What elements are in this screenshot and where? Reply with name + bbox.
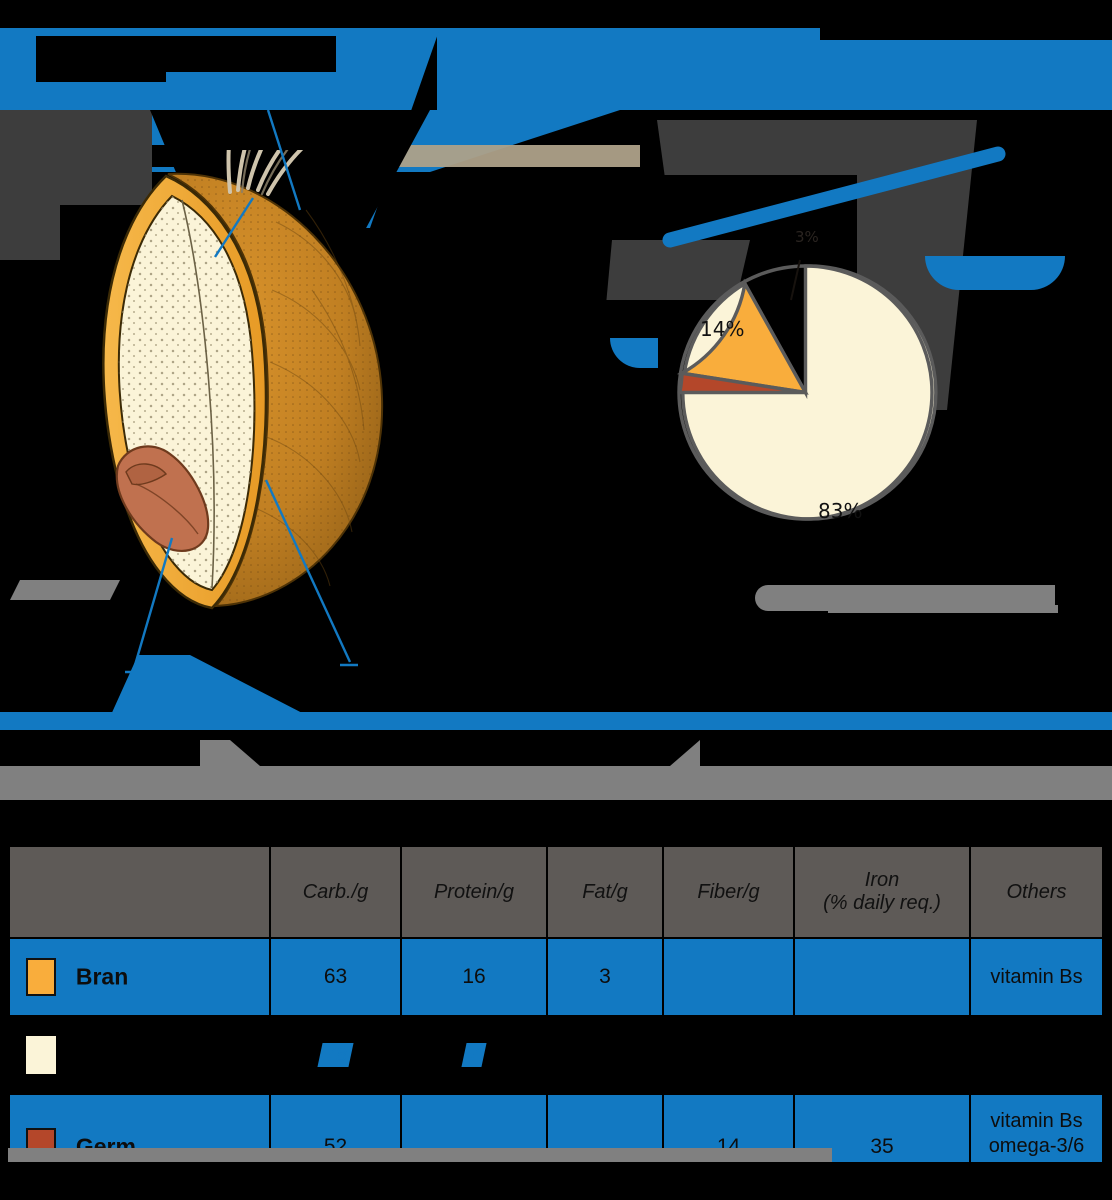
cell-bran-carb: 63: [270, 938, 401, 1016]
col-header-carb: Carb./g: [270, 846, 401, 938]
wheat-kernel-illustration: [60, 150, 400, 620]
row-label-bran: Bran: [76, 964, 128, 990]
kernel-label-blue-shape: [110, 655, 310, 717]
cell-endosperm-others: [970, 1016, 1103, 1094]
legend-swatch-endosperm: [26, 1036, 56, 1074]
col-header-name: [9, 846, 270, 938]
row-label-bran-cell: Bran: [9, 938, 270, 1016]
col-header-fiber: Fiber/g: [663, 846, 794, 938]
row-label-endosperm: Endosperm: [76, 1042, 203, 1068]
banner-right-mask: [820, 28, 1112, 40]
composition-pie-chart: [668, 255, 943, 530]
cell-endosperm-protein-value: 7: [462, 1043, 487, 1067]
pie-label-bran: 14%: [700, 317, 744, 341]
page-subtitle: [36, 60, 166, 82]
col-header-iron: Iron (% daily req.): [794, 846, 970, 938]
beam-bar: [670, 154, 998, 240]
col-header-others: Others: [970, 846, 1103, 938]
cell-bran-protein: 16: [401, 938, 547, 1016]
nutrition-table: Carb./g Protein/g Fat/g Fiber/g Iron (% …: [8, 845, 1104, 1200]
cell-endosperm-carb-value: 78: [317, 1043, 353, 1067]
lower-gray-band-mask-a: [0, 740, 200, 766]
cell-bran-others: vitamin Bs: [970, 938, 1103, 1016]
cell-endosperm-fat: [547, 1016, 663, 1094]
legend-swatch-bran: [26, 958, 56, 996]
cell-bran-fat: 3: [547, 938, 663, 1016]
bottom-margin: [0, 1162, 1112, 1199]
cell-endosperm-carb: 78: [270, 1016, 401, 1094]
banner-wedge: [437, 28, 557, 110]
col-header-fat: Fat/g: [547, 846, 663, 938]
table-row-bran: Bran 63 16 3 vitamin Bs: [9, 938, 1103, 1016]
col-header-protein: Protein/g: [401, 846, 547, 938]
table-footer-rule: [8, 1148, 832, 1162]
cell-germ-others-line1: vitamin Bs: [973, 1109, 1100, 1134]
cell-bran-iron: [794, 938, 970, 1016]
lower-gray-band-mask-d: [0, 800, 1112, 820]
balance-beam-icon: [660, 140, 1008, 250]
kernel-caption-mask: [0, 600, 120, 620]
cell-endosperm-protein: 7: [401, 1016, 547, 1094]
cell-endosperm-fiber: [663, 1016, 794, 1094]
left-dark-panel-lower: [0, 200, 60, 260]
lower-gray-band-mask-b: [230, 740, 700, 766]
table-header-row: Carb./g Protein/g Fat/g Fiber/g Iron (% …: [9, 846, 1103, 938]
section-divider-rule: [0, 712, 1112, 730]
row-label-endosperm-cell: Endosperm: [9, 1016, 270, 1094]
pie-caption-shape-2: [828, 605, 1058, 613]
pie-label-endosperm: 83%: [818, 499, 862, 523]
pie-label-germ: 3%: [795, 228, 819, 246]
lower-gray-band-mask-c: [700, 740, 1112, 766]
cell-endosperm-iron: [794, 1016, 970, 1094]
table-row-endosperm: Endosperm 78 7: [9, 1016, 1103, 1094]
banner-right-band: [556, 28, 1112, 110]
scale-pan-right: [925, 256, 1065, 290]
col-header-iron-line2: (% daily req.): [797, 892, 967, 915]
cell-bran-fiber: [663, 938, 794, 1016]
col-header-iron-line1: Iron: [797, 869, 967, 892]
cell-bran-others-line1: vitamin Bs: [973, 965, 1100, 990]
